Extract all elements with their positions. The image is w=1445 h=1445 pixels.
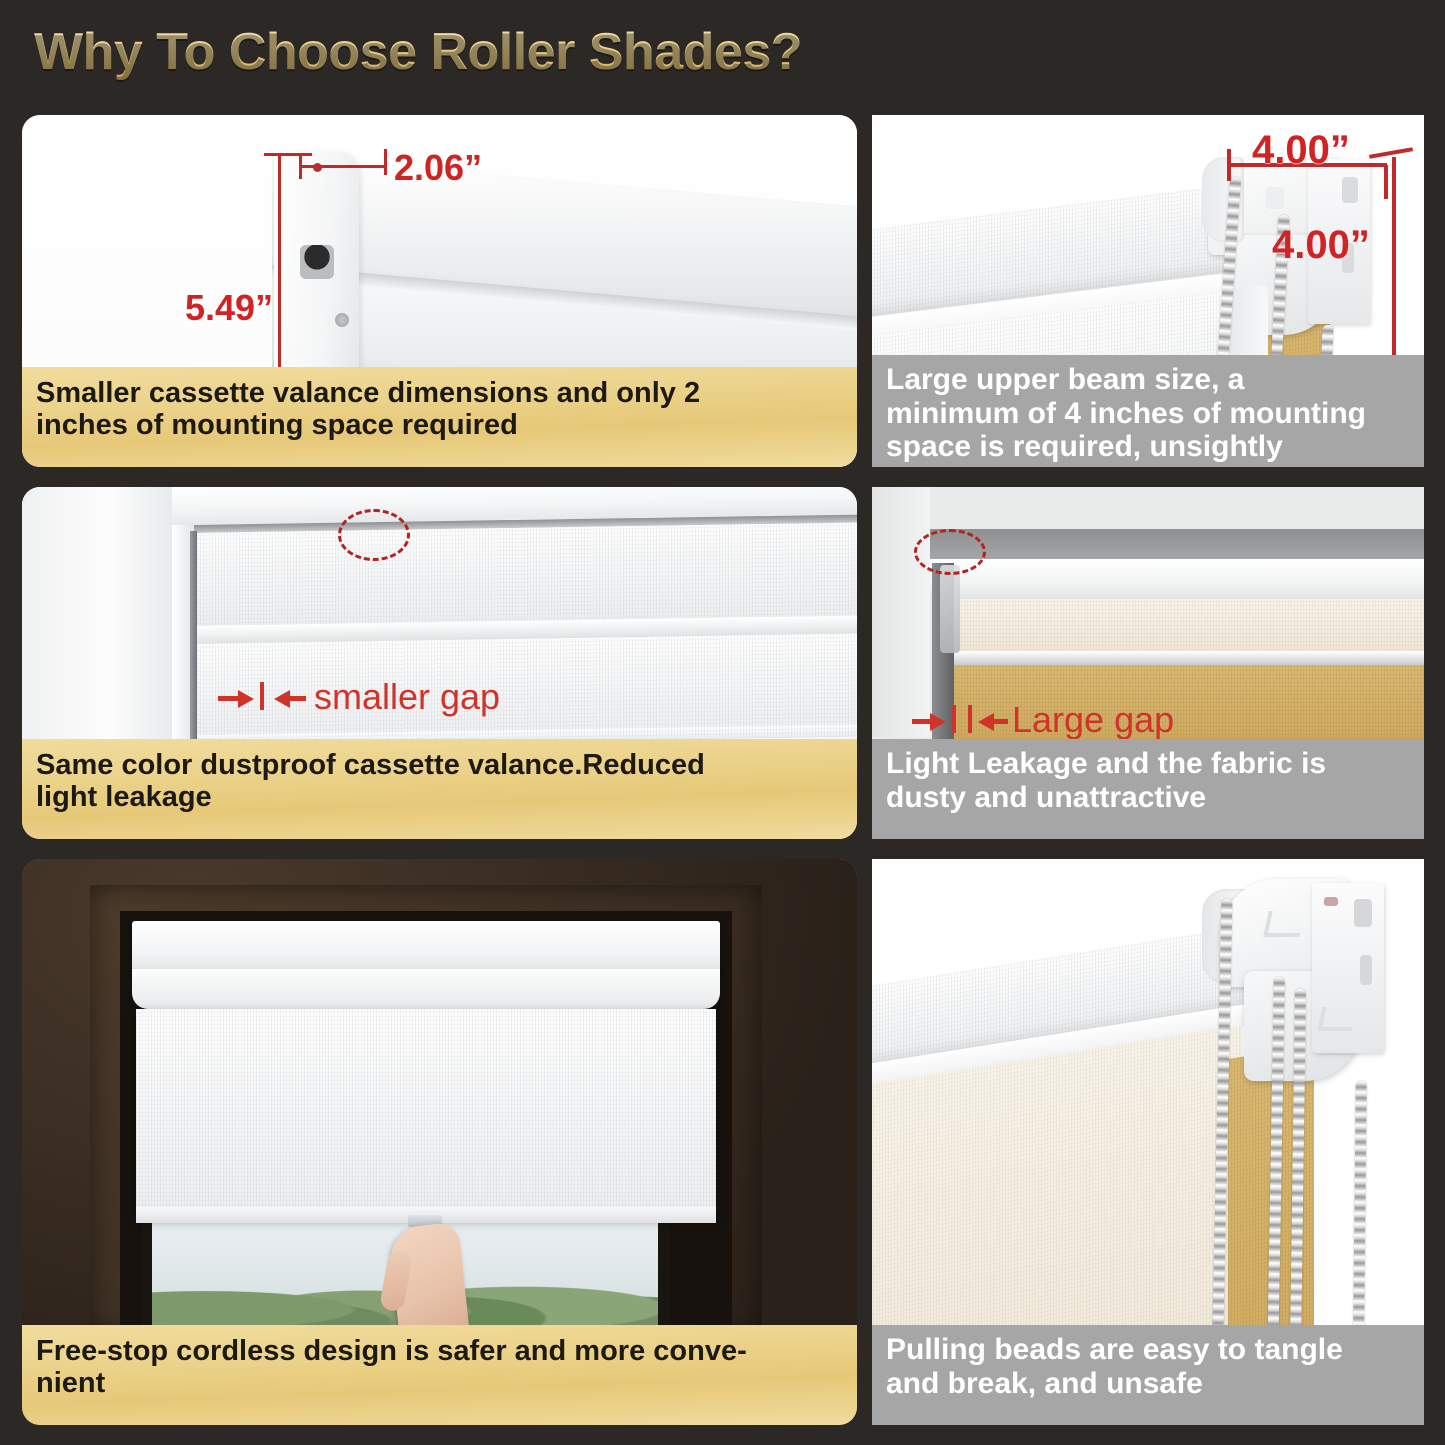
caption-line: light leakage [36, 781, 705, 813]
bracket-slot-icon [1354, 899, 1372, 927]
gap-arrow-left-stem [218, 696, 240, 701]
bracket-pin-icon [1266, 187, 1284, 209]
caption-top-left: Smaller cassette valance dimensions and … [22, 367, 857, 467]
caption-line: Free-stop cordless design is safer and m… [36, 1335, 747, 1367]
dim-width-tick-right [384, 149, 387, 175]
caption-line: Same color dustproof cassette valance.Re… [36, 749, 705, 781]
recess-shadow [930, 529, 1424, 563]
caption-line: nient [36, 1367, 747, 1399]
caption-line: space is required, unsightly [886, 430, 1366, 464]
panel-top-right: 4.00” 4.00” Large upper beam size, a min… [872, 115, 1424, 467]
roller-end-disc-lower [1228, 285, 1268, 365]
bracket-clip-icon [940, 565, 960, 653]
gap-label: Large gap [1012, 699, 1174, 741]
dim-width-label: 2.06” [394, 147, 482, 189]
valance-bottom-rail [934, 651, 1424, 665]
panel-bottom-right: Pulling beads are easy to tangle and bre… [872, 859, 1424, 1425]
end-cap-screw-icon [335, 313, 349, 327]
dim-width-label: 4.00” [1252, 128, 1350, 173]
panel-bottom-left: Free-stop cordless design is safer and m… [22, 859, 857, 1425]
wall-left [872, 487, 930, 737]
bracket-slot-icon [1342, 177, 1358, 203]
gap-arrow-right-stem [992, 719, 1008, 724]
caption-bottom-left: Free-stop cordless design is safer and m… [22, 1325, 857, 1425]
dim-width-tick-left [299, 153, 302, 179]
caption-line: dusty and unattractive [886, 781, 1326, 815]
highlight-ellipse-top [338, 509, 410, 561]
bracket-slot-icon [1360, 955, 1372, 985]
dim-width-tick-right [1384, 165, 1388, 199]
bracket-wave-icon [1263, 911, 1305, 937]
cassette-valance-lip [132, 969, 720, 1009]
caption-line: inches of mounting space required [36, 409, 700, 441]
bracket-red-dot-icon [1324, 897, 1338, 906]
window-mullion [142, 1219, 152, 1335]
valance-cream-band [934, 599, 1424, 654]
gap-arrow-right-stem [288, 696, 306, 701]
panel-mid-right: Large gap Light Leakage and the fabric i… [872, 487, 1424, 839]
gap-marker-bar [952, 705, 956, 733]
caption-line: Smaller cassette valance dimensions and … [36, 377, 700, 409]
dim-height-tick-top [264, 153, 312, 156]
caption-line: Large upper beam size, a [886, 363, 1366, 397]
dim-height-label: 4.00” [1272, 223, 1370, 268]
caption-line: and break, and unsafe [886, 1367, 1343, 1401]
panel-mid-left: smaller gap Same color dustproof cassett… [22, 487, 857, 839]
dim-width-tick-left [1227, 149, 1231, 181]
highlight-ellipse [914, 529, 986, 575]
dim-height-label: 5.49” [185, 287, 273, 329]
gap-arrow-left-head [930, 713, 946, 731]
gap-label: smaller gap [314, 676, 500, 718]
gap-strip [190, 531, 197, 747]
caption-line: Pulling beads are easy to tangle [886, 1333, 1343, 1367]
caption-mid-left: Same color dustproof cassette valance.Re… [22, 739, 857, 839]
gap-arrow-left-head [238, 690, 254, 708]
bracket-wave-icon [1317, 1007, 1356, 1031]
window-frame-left [22, 487, 172, 747]
gap-marker-bar [968, 705, 972, 733]
caption-line: minimum of 4 inches of mounting [886, 397, 1366, 431]
caption-mid-right: Light Leakage and the fabric is dusty an… [872, 739, 1424, 839]
end-cap-slot-icon [300, 245, 334, 279]
gap-marker-bar [260, 682, 264, 710]
dim-height-tick-top [1369, 147, 1413, 159]
dim-height-line [1392, 157, 1396, 367]
gap-arrow-left-stem [912, 719, 932, 724]
infographic-root: Why To Choose Roller Shades? 5.49” [0, 0, 1445, 1445]
window-mullion-right [658, 1219, 670, 1335]
caption-line: Light Leakage and the fabric is [886, 747, 1326, 781]
dim-width-line [299, 165, 387, 168]
cassette-valance-face [194, 523, 857, 628]
caption-top-right: Large upper beam size, a minimum of 4 in… [872, 355, 1424, 467]
page-title: Why To Choose Roller Shades? [34, 22, 802, 82]
caption-bottom-right: Pulling beads are easy to tangle and bre… [872, 1325, 1424, 1425]
cassette-valance [132, 921, 720, 973]
panel-top-left: 5.49” 2.06” Smaller cassette valance dim… [22, 115, 857, 467]
shade-fabric [136, 1009, 716, 1217]
white-valance-bar [930, 559, 1424, 603]
